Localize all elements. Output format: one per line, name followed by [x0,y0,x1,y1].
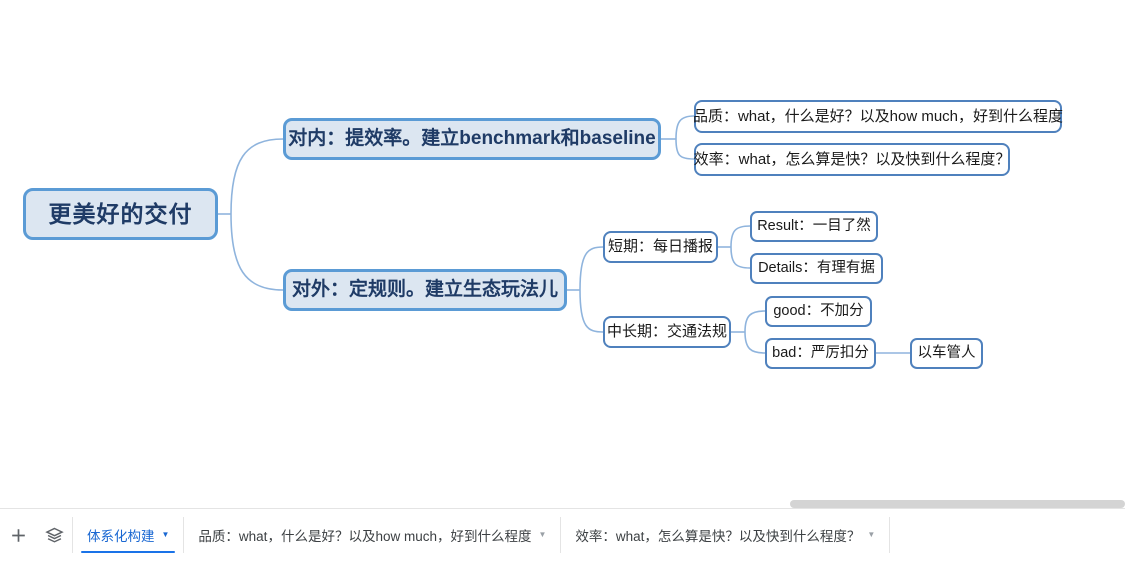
bottom-tab-bar: 体系化构建 ▼ 品质：what，什么是好？以及how much，好到什么程度 ▼… [0,508,1125,561]
node-manage-people-by-vehicle-label: 以车管人 [918,345,976,362]
mindmap-connectors [0,0,1125,508]
tab-0[interactable]: 体系化构建 ▼ [73,509,183,561]
node-bad-label: bad：严厉扣分 [772,345,869,362]
node-result-label: Result：一目了然 [757,218,871,235]
horizontal-scrollbar[interactable] [790,500,1125,508]
node-good[interactable]: good：不加分 [765,296,872,327]
plus-icon [10,527,27,544]
node-root-label: 更美好的交付 [49,201,193,227]
node-short-term-label: 短期：每日播报 [608,238,713,255]
node-branch-external[interactable]: 对外：定规则。建立生态玩法儿 [283,269,567,311]
node-quality-label: 品质：what，什么是好？以及how much，好到什么程度 [693,108,1063,125]
node-quality[interactable]: 品质：what，什么是好？以及how much，好到什么程度 [694,100,1062,133]
mindmap-canvas[interactable]: 更美好的交付 对内：提效率。建立benchmark和baseline 品质：wh… [0,0,1125,508]
tab-1[interactable]: 品质：what，什么是好？以及how much，好到什么程度 ▼ [184,509,560,561]
node-root[interactable]: 更美好的交付 [23,188,218,240]
tab-2[interactable]: 效率：what，怎么算是快？以及快到什么程度？ ▼ [561,509,889,561]
node-short-term[interactable]: 短期：每日播报 [603,231,718,263]
chevron-down-icon[interactable]: ▼ [867,531,875,539]
node-mid-long-term[interactable]: 中长期：交通法规 [603,316,731,348]
add-sheet-button[interactable] [0,509,36,561]
node-efficiency[interactable]: 效率：what，怎么算是快？以及快到什么程度？ [694,143,1010,176]
node-manage-people-by-vehicle[interactable]: 以车管人 [910,338,983,369]
chevron-down-icon[interactable]: ▼ [162,531,170,539]
node-bad[interactable]: bad：严厉扣分 [765,338,876,369]
tab-1-label: 品质：what，什么是好？以及how much，好到什么程度 [198,525,531,545]
chevron-down-icon[interactable]: ▼ [538,531,546,539]
node-details[interactable]: Details：有理有据 [750,253,883,284]
bar-divider [889,517,890,553]
tab-2-label: 效率：what，怎么算是快？以及快到什么程度？ [575,525,860,545]
node-result[interactable]: Result：一目了然 [750,211,878,242]
tab-0-label: 体系化构建 [87,525,155,545]
node-details-label: Details：有理有据 [758,260,875,277]
layers-icon [45,526,64,545]
node-branch-external-label: 对外：定规则。建立生态玩法儿 [292,279,558,301]
node-branch-internal[interactable]: 对内：提效率。建立benchmark和baseline [283,118,661,160]
node-good-label: good：不加分 [773,303,863,320]
sheet-list-button[interactable] [36,509,72,561]
node-mid-long-term-label: 中长期：交通法规 [607,323,727,340]
node-efficiency-label: 效率：what，怎么算是快？以及快到什么程度？ [694,151,1011,168]
node-branch-internal-label: 对内：提效率。建立benchmark和baseline [288,128,655,150]
